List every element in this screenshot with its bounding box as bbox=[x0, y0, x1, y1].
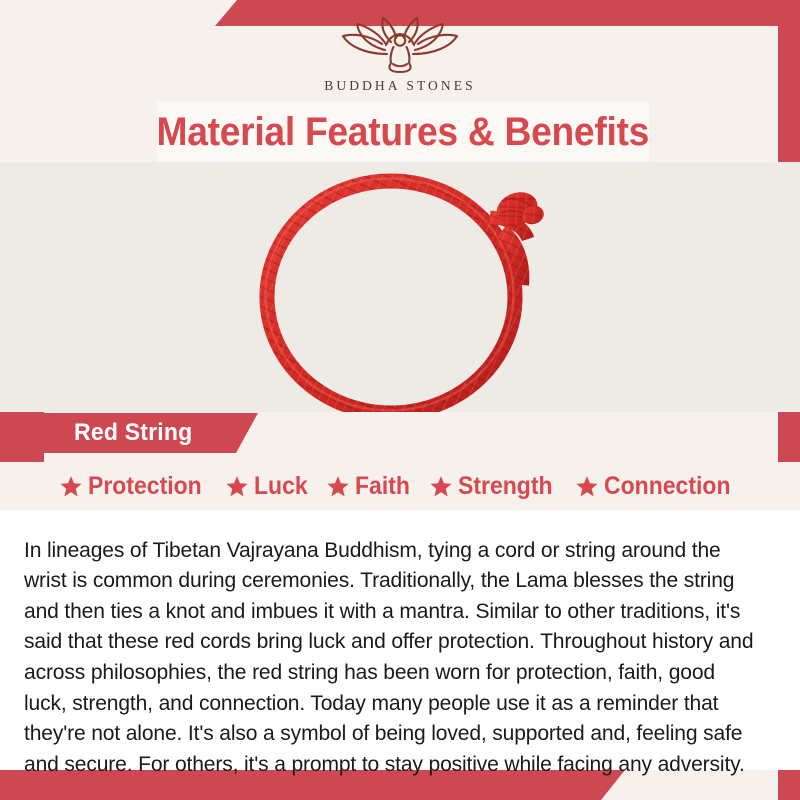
product-name-ribbon: Red String bbox=[30, 413, 258, 453]
product-photo-panel bbox=[0, 162, 800, 412]
star-icon bbox=[225, 475, 249, 498]
brand-logo: BUDDHA STONES bbox=[0, 14, 800, 102]
product-name-label: Red String bbox=[74, 419, 192, 447]
description-panel: In lineages of Tibetan Vajrayana Buddhis… bbox=[0, 510, 800, 770]
benefit-item-protection: Protection bbox=[52, 474, 219, 499]
benefit-label: Connection bbox=[604, 474, 731, 499]
benefit-label: Luck bbox=[254, 474, 308, 499]
star-icon bbox=[59, 475, 83, 498]
benefit-item-luck: Luck bbox=[218, 474, 319, 499]
star-icon bbox=[326, 475, 350, 498]
benefit-item-strength: Strength bbox=[422, 474, 568, 499]
benefits-row: Protection Luck Faith Strength Connectio bbox=[0, 462, 800, 510]
brand-name: BUDDHA STONES bbox=[324, 78, 475, 94]
benefit-label: Strength bbox=[458, 474, 553, 499]
star-icon bbox=[429, 475, 453, 498]
benefit-item-connection: Connection bbox=[568, 474, 749, 499]
page-title: Material Features & Benefits bbox=[157, 112, 649, 152]
benefit-label: Protection bbox=[88, 474, 202, 499]
red-braided-string-bracelet-image bbox=[228, 162, 568, 412]
benefit-label: Faith bbox=[355, 474, 410, 499]
lotus-meditation-icon bbox=[325, 14, 475, 76]
title-banner: Material Features & Benefits bbox=[157, 102, 649, 162]
star-icon bbox=[575, 475, 599, 498]
description-text: In lineages of Tibetan Vajrayana Buddhis… bbox=[24, 535, 757, 780]
benefit-item-faith: Faith bbox=[319, 474, 422, 499]
product-infographic: BUDDHA STONES Material Features & Benefi… bbox=[0, 0, 800, 800]
